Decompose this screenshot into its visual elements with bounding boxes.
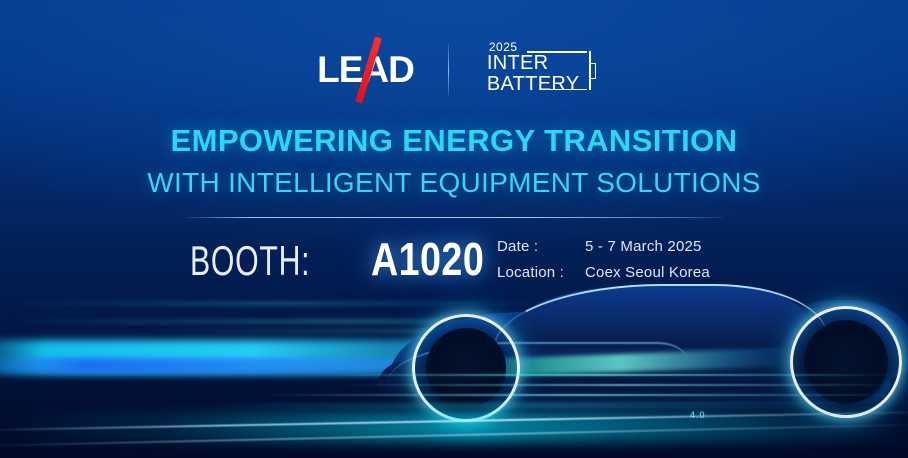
location-value: Coex Seoul Korea (585, 264, 710, 281)
headline-secondary: WITH INTELLIGENT EQUIPMENT SOLUTIONS (0, 167, 908, 199)
car-roof-highlight (494, 284, 835, 346)
section-divider (187, 217, 722, 218)
headline-primary: EMPOWERING ENERGY TRANSITION (0, 123, 908, 159)
location-label: Location : (497, 264, 585, 281)
interbattery-line1: INTER (487, 53, 549, 73)
booth-block: BOOTH: A1020 (190, 232, 509, 286)
car-artwork-scene: 4.0 (0, 262, 908, 458)
car-rear-wheel (790, 306, 902, 418)
booth-number: A1020 (371, 232, 484, 286)
booth-label: BOOTH: (190, 237, 310, 285)
battery-outline-top (527, 51, 587, 53)
interbattery-logo: 2025 INTER BATTERY (483, 41, 591, 99)
event-info-row-date: Date : 5 - 7 March 2025 (497, 238, 710, 255)
date-value: 5 - 7 March 2025 (585, 238, 702, 255)
battery-terminal-icon (590, 63, 596, 79)
wheel-glow-ring (790, 306, 902, 418)
speed-streak (300, 374, 900, 376)
speed-streak (260, 394, 900, 396)
event-info-block: Date : 5 - 7 March 2025 Location : Coex … (497, 238, 710, 290)
event-info-row-location: Location : Coex Seoul Korea (497, 264, 710, 281)
interbattery-line2: BATTERY (487, 74, 580, 94)
date-label: Date : (497, 238, 585, 255)
lead-logo: LEAD (317, 49, 414, 91)
speed-streak (200, 404, 900, 407)
logo-divider (448, 44, 449, 96)
speed-streak (340, 384, 900, 386)
logo-row: LEAD 2025 INTER BATTERY (0, 42, 908, 98)
promo-banner: 4.0 LEAD 2025 INTER BATTERY EMPOWERING E… (0, 0, 908, 458)
battery-outline-bottom (545, 89, 587, 91)
